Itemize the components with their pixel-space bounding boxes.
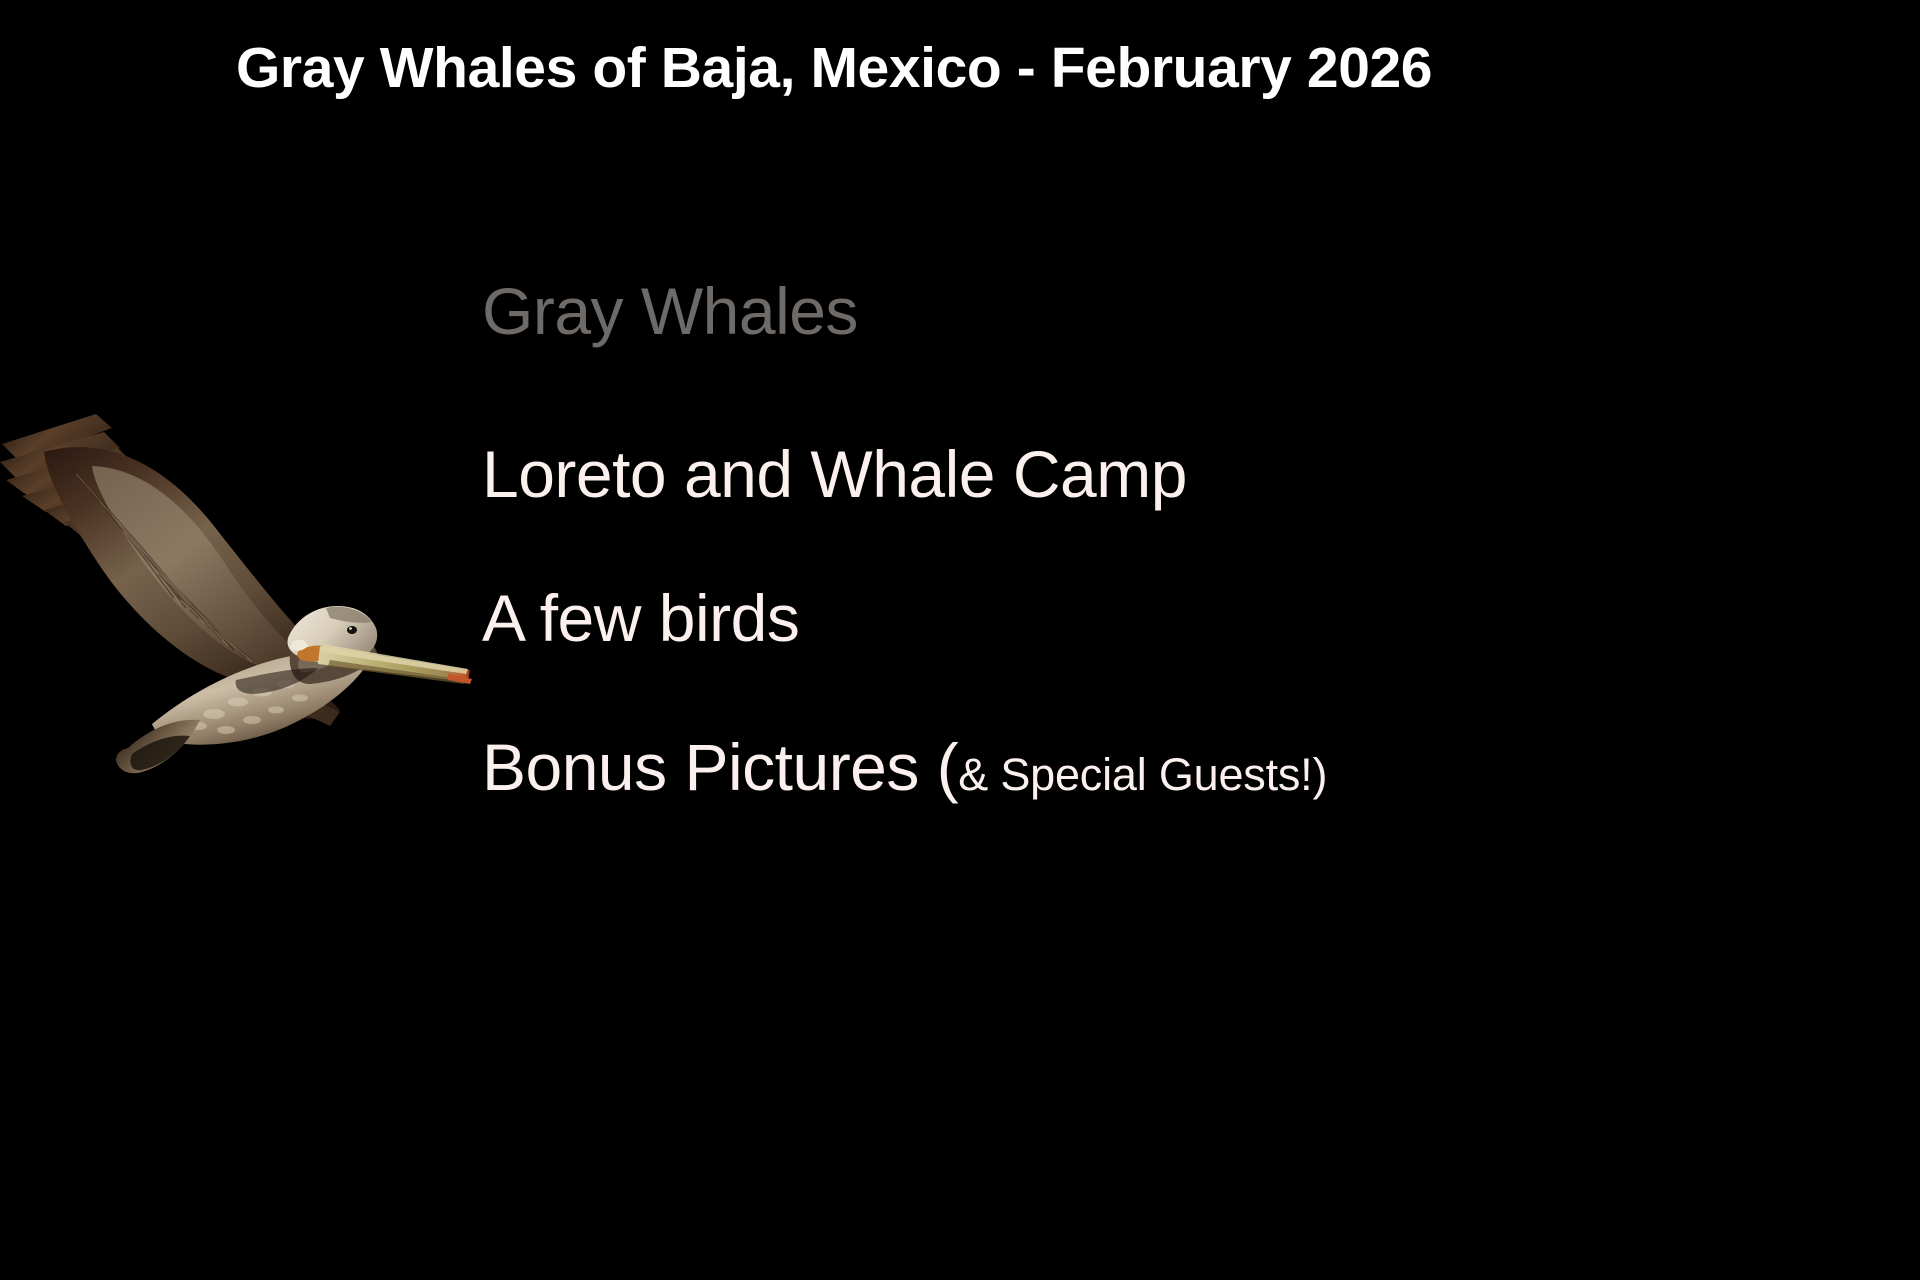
line-spacer bbox=[482, 509, 1782, 585]
line-spacer bbox=[482, 345, 1782, 441]
eye bbox=[347, 626, 357, 634]
pelican-photo bbox=[0, 392, 480, 784]
slide-title: Gray Whales of Baja, Mexico - February 2… bbox=[236, 36, 1656, 102]
agenda-item-bonus-pictures: Bonus Pictures (& Special Guests!) bbox=[482, 734, 1782, 801]
slide-canvas: Gray Whales of Baja, Mexico - February 2… bbox=[0, 0, 1920, 1280]
line-spacer bbox=[482, 652, 1782, 734]
agenda-item-bonus-pictures-main: Bonus Pictures ( bbox=[482, 730, 958, 804]
agenda-list: Gray Whales Loreto and Whale Camp A few … bbox=[482, 278, 1782, 801]
agenda-item-bonus-pictures-suffix: & Special Guests!) bbox=[958, 749, 1327, 800]
agenda-item-loreto-and-whale-camp: Loreto and Whale Camp bbox=[482, 441, 1782, 508]
agenda-item-a-few-birds: A few birds bbox=[482, 585, 1782, 652]
agenda-item-gray-whales: Gray Whales bbox=[482, 278, 1782, 345]
